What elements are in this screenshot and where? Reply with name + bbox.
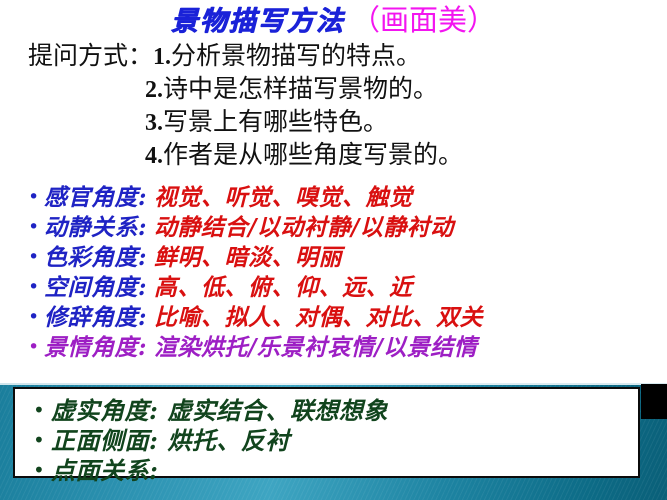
intro-line-1: 提问方式：1.分析景物描写的特点。 — [0, 40, 667, 73]
list-item: • 动静关系: 动静结合/以动衬静/以静衬动 — [0, 208, 667, 238]
bullet-dot-icon: • — [33, 460, 51, 480]
bullet-dot-icon: • — [28, 278, 44, 297]
bullet-value-emotion: 渲染烘托/乐景衬哀情/以景结情 — [154, 328, 477, 362]
bullet-label-rhetoric: 修辞角度: — [44, 298, 147, 332]
list-item: • 感官角度: 视觉、听觉、嗅觉、触觉 — [0, 178, 667, 208]
bullet-label-color: 色彩角度: — [44, 238, 147, 272]
intro-number-1: 1. — [153, 44, 171, 70]
bullet-dot-icon: • — [28, 308, 44, 327]
bullet-label-sensory: 感官角度: — [44, 178, 147, 212]
list-item: • 景情角度: 渲染烘托/乐景衬哀情/以景结情 — [0, 328, 667, 358]
intro-line-3: 3.写景上有哪些特色。 — [0, 106, 667, 139]
intro-text-4: 作者是从哪些角度写景的。 — [163, 140, 463, 169]
list-item: • 色彩角度: 鲜明、暗淡、明丽 — [0, 238, 667, 268]
question-types-block: 提问方式：1.分析景物描写的特点。 2.诗中是怎样描写景物的。 3.写景上有哪些… — [0, 40, 667, 172]
list-item: • 空间角度: 高、低、俯、仰、远、近 — [0, 268, 667, 298]
intro-text-3: 写景上有哪些特色。 — [163, 107, 388, 136]
slide-title: 景物描写方法（画面美） — [0, 6, 667, 35]
intro-line-4: 4.作者是从哪些角度写景的。 — [0, 139, 667, 172]
list-item: • 虚实角度: 虚实结合、联想想象 — [15, 389, 638, 421]
bullet-value-space: 高、低、俯、仰、远、近 — [154, 268, 413, 302]
bullet-value-rhetoric: 比喻、拟人、对偶、对比、双关 — [154, 298, 483, 332]
bullet-value-sensory: 视觉、听觉、嗅觉、触觉 — [154, 178, 413, 212]
callout-value-front-side: 烘托、反衬 — [167, 421, 290, 456]
bullet-dot-icon: • — [28, 188, 44, 207]
list-item: • 点面关系: — [15, 451, 638, 481]
band-highlight-line — [0, 383, 667, 385]
bullet-dot-icon: • — [28, 248, 44, 267]
intro-number-3: 3. — [145, 110, 163, 136]
callout-box: • 虚实角度: 虚实结合、联想想象 • 正面侧面: 烘托、反衬 • 点面关系: — [13, 387, 640, 478]
bullet-dot-icon: • — [28, 218, 44, 237]
list-item: • 修辞角度: 比喻、拟人、对偶、对比、双关 — [0, 298, 667, 328]
bullet-value-color: 鲜明、暗淡、明丽 — [154, 238, 342, 272]
angle-bullet-list: • 感官角度: 视觉、听觉、嗅觉、触觉 • 动静关系: 动静结合/以动衬静/以静… — [0, 178, 667, 358]
slide-canvas: 景物描写方法（画面美） 提问方式：1.分析景物描写的特点。 2.诗中是怎样描写景… — [0, 0, 667, 500]
intro-number-4: 4. — [145, 143, 163, 169]
title-main-text: 景物描写方法 — [171, 6, 345, 37]
bullet-dot-icon: • — [33, 430, 51, 450]
intro-prefix: 提问方式： — [28, 41, 153, 70]
bullet-value-motion: 动静结合/以动衬静/以静衬动 — [154, 208, 454, 242]
title-sub-text: （画面美） — [351, 3, 496, 37]
intro-text-2: 诗中是怎样描写景物的。 — [163, 74, 438, 103]
black-corner-block — [641, 384, 667, 419]
intro-line-2: 2.诗中是怎样描写景物的。 — [0, 73, 667, 106]
bullet-label-emotion: 景情角度: — [44, 328, 147, 362]
bullet-label-motion: 动静关系: — [44, 208, 147, 242]
callout-label-point-surface: 点面关系: — [51, 451, 158, 486]
bullet-dot-icon: • — [28, 338, 44, 357]
intro-text-1: 分析景物描写的特点。 — [171, 41, 421, 70]
bullet-dot-icon: • — [33, 400, 51, 420]
intro-number-2: 2. — [145, 77, 163, 103]
bullet-label-space: 空间角度: — [44, 268, 147, 302]
